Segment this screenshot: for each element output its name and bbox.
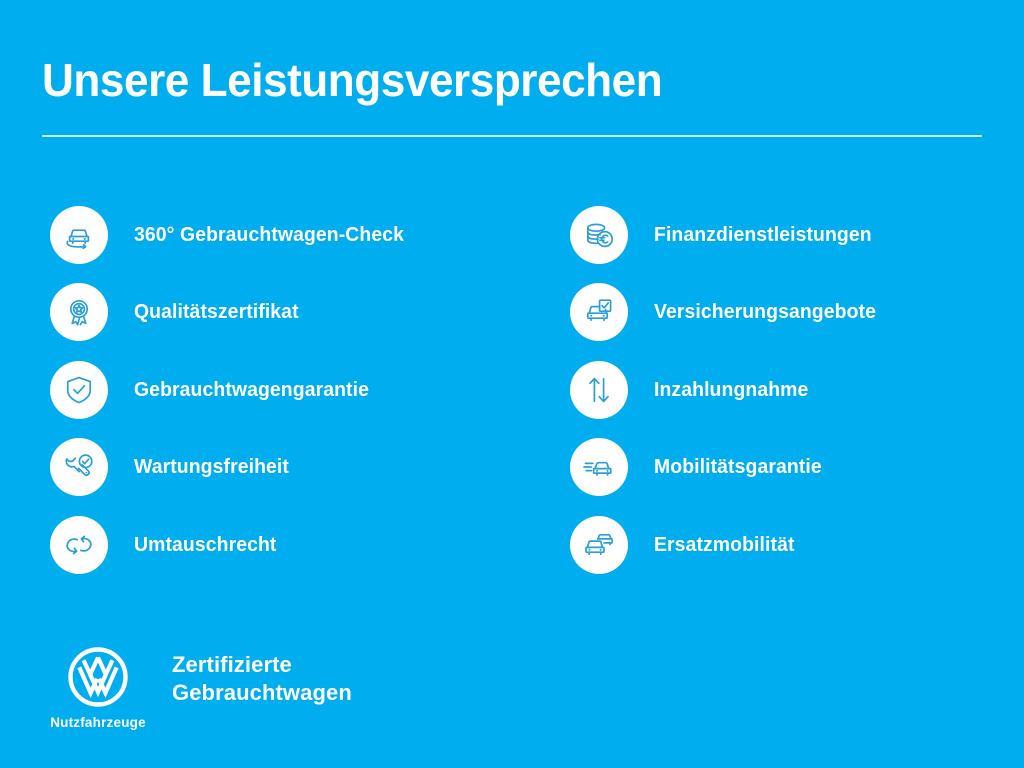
title-divider [42,135,982,137]
slide-root: Unsere Leistungsversprechen 360° Ge [0,0,1024,768]
list-item[interactable]: Qualitätszertifikat [50,274,550,352]
coins-euro-icon [570,206,628,264]
car-document-check-icon [570,283,628,341]
promise-column-right: Finanzdienstleistungen Versicheru [570,196,1010,584]
list-item-label: Ersatzmobilität [654,533,795,557]
list-item[interactable]: Finanzdienstleistungen [570,196,1010,274]
list-item[interactable]: Versicherungsangebote [570,274,1010,352]
vw-logo-block: Nutzfahrzeuge [42,645,154,730]
list-item-label: Versicherungsangebote [654,300,876,324]
promise-column-left: 360° Gebrauchtwagen-Check Qualitätszerti… [50,196,550,584]
page-title: Unsere Leistungsversprechen [42,52,662,108]
footer-headline-line1: Zertifizierte [172,652,292,677]
list-item-label: 360° Gebrauchtwagen-Check [134,223,404,247]
list-item-label: Inzahlungnahme [654,378,808,402]
list-item-label: Finanzdienstleistungen [654,223,872,247]
list-item-label: Gebrauchtwagengarantie [134,378,369,402]
vw-logo-icon [66,645,130,709]
exchange-arrows-icon [50,516,108,574]
list-item[interactable]: Inzahlungnahme [570,351,1010,429]
list-item[interactable]: Umtauschrecht [50,506,550,584]
arrows-up-down-icon [570,361,628,419]
list-item[interactable]: 360° Gebrauchtwagen-Check [50,196,550,274]
award-rosette-icon [50,283,108,341]
shield-check-icon [50,361,108,419]
footer-headline: Zertifizierte Gebrauchtwagen [172,651,352,707]
list-item[interactable]: Gebrauchtwagengarantie [50,351,550,429]
list-item-label: Umtauschrecht [134,533,276,557]
two-cars-icon [570,516,628,574]
list-item[interactable]: Wartungsfreiheit [50,429,550,507]
wrench-check-icon [50,438,108,496]
list-item[interactable]: Ersatzmobilität [570,506,1010,584]
footer-logo-lockup: Nutzfahrzeuge Zertifizierte Gebrauchtwag… [42,645,352,730]
list-item[interactable]: Mobilitätsgarantie [570,429,1010,507]
list-item-label: Wartungsfreiheit [134,455,289,479]
logo-subtitle: Nutzfahrzeuge [50,715,146,730]
list-item-label: Qualitätszertifikat [134,300,299,324]
footer-headline-line2: Gebrauchtwagen [172,679,352,707]
car-360-check-icon [50,206,108,264]
list-item-label: Mobilitätsgarantie [654,455,822,479]
car-motion-icon [570,438,628,496]
